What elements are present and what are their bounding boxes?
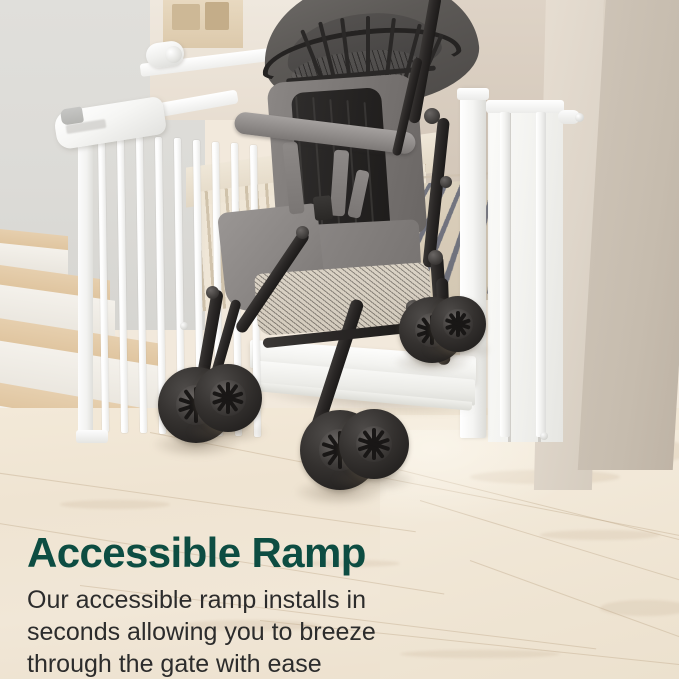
gate-extension-bar: [500, 112, 510, 437]
floor-grain: [60, 500, 170, 509]
page-title: Accessible Ramp: [27, 530, 527, 575]
gate-extension-bar: [536, 112, 546, 437]
stroller-frame-joint: [296, 226, 309, 239]
gate-base-foot: [76, 430, 108, 443]
gate-mounting-screw: [575, 113, 584, 122]
product-lifestyle-scene: Accessible Ramp Our accessible ramp inst…: [0, 0, 679, 679]
marketing-text-block: Accessible Ramp Our accessible ramp inst…: [27, 530, 527, 679]
stroller-harness-buckle: [313, 195, 333, 221]
marketing-body-text: Our accessible ramp installs in seconds …: [27, 584, 417, 679]
stroller-frame-joint: [440, 176, 452, 188]
gate-post-screw: [180, 322, 188, 330]
shelf-box: [172, 4, 200, 30]
floor-grain: [540, 530, 660, 540]
stroller-frame-joint: [428, 250, 443, 265]
gate-extension-rail: [486, 100, 564, 113]
stroller-frame-joint: [424, 108, 440, 124]
gate-post-screw: [540, 432, 548, 440]
stroller-frame-joint: [206, 286, 219, 299]
gate-post-cap: [457, 88, 489, 100]
shelf-box-secondary: [205, 2, 229, 30]
floor-grain: [600, 600, 679, 616]
gate-frame-left: [78, 140, 93, 440]
